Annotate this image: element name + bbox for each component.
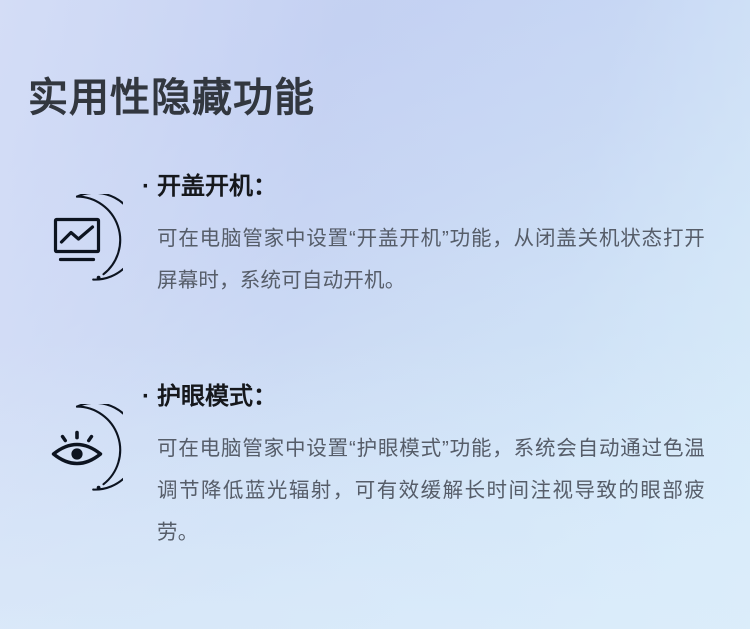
feature-description: 可在电脑管家中设置“护眼模式”功能，系统会自动通过色温调节降低蓝光辐射，可有效缓… (142, 428, 705, 554)
feature-heading-label: 护眼模式： (157, 383, 277, 410)
poster-content: 实用性隐藏功能 (0, 0, 750, 629)
page-title: 实用性隐藏功能 (28, 74, 315, 122)
bullet-marker: · (142, 172, 157, 202)
feature-heading: ·护眼模式： (142, 382, 717, 412)
feature-text-block: ·开盖开机： 可在电脑管家中设置“开盖开机”功能，从闭盖关机状态打开屏幕时，系统… (142, 172, 717, 302)
monitor-chart-icon (31, 194, 123, 286)
feature-heading-label: 开盖开机： (157, 173, 277, 200)
feature-poster: 实用性隐藏功能 (0, 0, 750, 629)
eye-care-icon (31, 404, 123, 496)
feature-heading: ·开盖开机： (142, 172, 717, 202)
feature-description: 可在电脑管家中设置“开盖开机”功能，从闭盖关机状态打开屏幕时，系统可自动开机。 (142, 218, 705, 302)
feature-text-block: ·护眼模式： 可在电脑管家中设置“护眼模式”功能，系统会自动通过色温调节降低蓝光… (142, 382, 717, 554)
bullet-marker: · (142, 382, 157, 412)
